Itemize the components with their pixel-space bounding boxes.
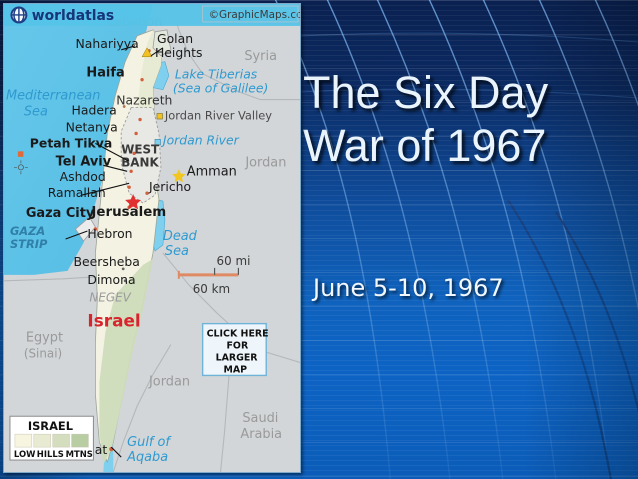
label-gulf-aqaba-2: Aqaba: [126, 450, 168, 465]
label-scale-miles: 60 mi: [217, 254, 251, 268]
label-ramallah: Ramallah: [48, 185, 106, 200]
label-lake-tiberias-2: (Sea of Galilee): [173, 81, 268, 96]
worldatlas-wordmark: worldatlas: [32, 8, 114, 24]
label-lake-tiberias-1: Lake Tiberias: [175, 67, 258, 82]
click-here-box: CLICK HERE FOR LARGER MAP: [203, 324, 269, 376]
label-syria: Syria: [244, 49, 277, 64]
label-dead-sea-1: Dead: [163, 229, 198, 244]
label-saudi-1: Saudi: [242, 411, 278, 426]
label-nazareth: Nazareth: [116, 93, 172, 108]
label-gaza-strip-1: GAZA: [10, 224, 45, 238]
label-egypt: Egypt: [26, 331, 63, 346]
worldatlas-brand: worldatlas ©GraphicMaps.com: [4, 4, 300, 26]
label-dead-sea-2: Sea: [165, 244, 189, 259]
label-sinai: (Sinai): [24, 346, 62, 360]
graphicmaps-copyright: ©GraphicMaps.com: [209, 9, 300, 21]
label-tel-aviv: Tel Aviv: [56, 154, 112, 169]
label-ashdod: Ashdod: [60, 169, 106, 184]
legend-label-hills: HILLS: [37, 449, 64, 459]
legend-swatch-1: [15, 434, 32, 447]
label-nahariyya: Nahariyya: [76, 36, 139, 51]
label-hebron: Hebron: [87, 226, 132, 241]
label-mediterranean-1: Mediterranean: [6, 89, 100, 104]
slide-subtitle: June 5-10, 1967: [313, 273, 633, 303]
label-petah-tikva: Petah Tikva: [30, 135, 112, 150]
label-hadera: Hadera: [72, 103, 117, 118]
israel-map-image[interactable]: Lebanon Syria Jordan Jordan Egypt (Sinai…: [3, 3, 301, 473]
label-golan-2: Heights: [155, 45, 202, 60]
label-gaza-strip-2: STRIP: [10, 237, 48, 251]
label-gulf-aqaba-1: Gulf of: [127, 435, 172, 450]
legend-label-low: LOW: [14, 449, 36, 459]
label-amman: Amman: [187, 164, 237, 179]
label-dimona: Dimona: [87, 272, 135, 287]
map-legend: ISRAEL LOW HILLS MTNS: [10, 416, 93, 460]
label-scale-km: 60 km: [193, 282, 230, 296]
label-west-bank-1: WEST: [121, 142, 160, 156]
label-jordan-2: Jordan: [148, 374, 190, 389]
label-for: FOR: [226, 341, 248, 352]
legend-swatch-4: [72, 434, 89, 447]
legend-swatch-3: [53, 434, 70, 447]
label-jerusalem: Jerusalem: [90, 205, 166, 220]
label-gaza-city: Gaza City: [26, 206, 95, 221]
label-mediterranean-2: Sea: [24, 105, 48, 120]
label-jericho: Jericho: [148, 179, 191, 194]
label-golan-1: Golan: [157, 31, 193, 46]
label-netanya: Netanya: [66, 119, 118, 134]
label-jordan-river-valley: Jordan River Valley: [164, 108, 272, 122]
legend-swatch-2: [34, 434, 51, 447]
label-map: MAP: [224, 364, 248, 375]
label-israel: Israel: [87, 311, 140, 331]
slide-title: The Six Day War of 1967: [303, 66, 633, 172]
label-beersheba: Beersheba: [74, 254, 140, 269]
globe-icon: [11, 7, 26, 22]
legend-title: ISRAEL: [28, 419, 73, 433]
label-larger: LARGER: [216, 352, 259, 363]
label-haifa: Haifa: [86, 66, 124, 81]
label-saudi-2: Arabia: [240, 427, 282, 442]
label-jordan-river: Jordan River: [160, 132, 240, 147]
legend-label-mtns: MTNS: [66, 449, 93, 459]
label-negev: NEGEV: [89, 291, 131, 305]
label-west-bank-2: BANK: [121, 155, 159, 169]
label-jordan-1: Jordan: [244, 155, 286, 170]
label-click-here: CLICK HERE: [207, 329, 269, 340]
presentation-slide: The Six Day War of 1967 June 5-10, 1967: [0, 0, 638, 479]
